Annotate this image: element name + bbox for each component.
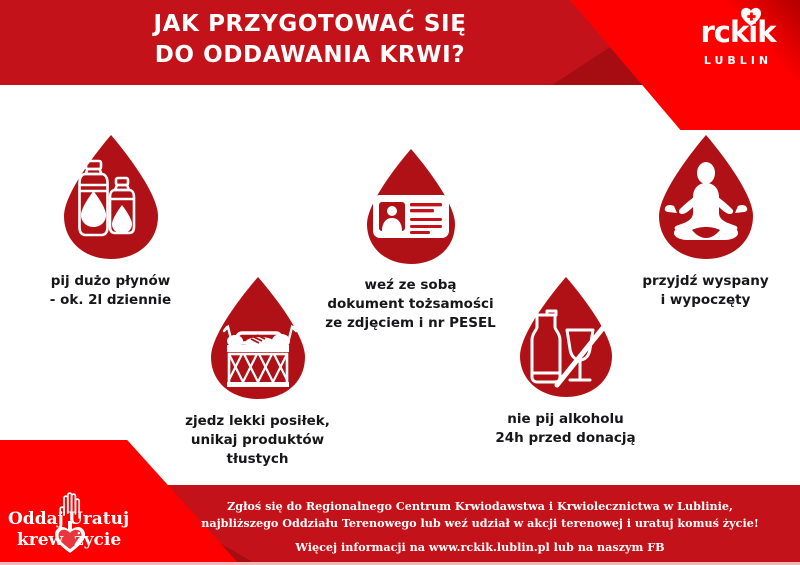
infographic-poster: JAK PRZYGOTOWAĆ SIĘ DO ODDAWANIA KRWI? r… <box>0 0 800 565</box>
badge-word-zycie: życie <box>74 530 121 551</box>
caption-line: unikaj produktów <box>175 431 340 450</box>
caption-line: 24h przed donacją <box>483 429 648 448</box>
oddaj-krew-badge[interactable]: Oddaj krew Uratuj życie <box>6 489 156 557</box>
caption-line: przyjdź wyspany <box>618 272 793 291</box>
item-no-alcohol-caption: nie pij alkoholu 24h przed donacją <box>483 410 648 448</box>
caption-line: i wypoczęty <box>618 291 793 310</box>
caption-line: pij dużo płynów <box>28 272 193 291</box>
meditating-person-icon <box>652 133 760 263</box>
rckik-logo[interactable]: rckik LUBLIN <box>690 12 786 67</box>
caption-line: tłustych <box>175 450 340 469</box>
item-well-rested-caption: przyjdź wyspany i wypoczęty <box>618 272 793 310</box>
caption-line: - ok. 2l dziennie <box>28 291 193 310</box>
caption-line: nie pij alkoholu <box>483 410 648 429</box>
content-area: pij dużo płynów - ok. 2l dziennie <box>0 85 800 485</box>
item-hydration: pij dużo płynów - ok. 2l dziennie <box>28 133 193 310</box>
logo-mark: rckik <box>690 12 786 52</box>
page-title: JAK PRZYGOTOWAĆ SIĘ DO ODDAWANIA KRWI? <box>0 9 620 71</box>
footer-line-2: najbliższego Oddziału Terenowego lub weź… <box>160 515 800 532</box>
page-title-line-1: JAK PRZYGOTOWAĆ SIĘ <box>0 9 620 40</box>
caption-line: zjedz lekki posiłek, <box>175 412 340 431</box>
heart-with-cross-icon <box>740 7 762 27</box>
caption-line: weź ze sobą <box>318 276 503 295</box>
item-hydration-caption: pij dużo płynów - ok. 2l dziennie <box>28 272 193 310</box>
item-light-meal: zjedz lekki posiłek, unikaj produktów tł… <box>175 275 340 469</box>
badge-word-oddaj: Oddaj <box>8 509 64 530</box>
item-id-document: weź ze sobą dokument tożsamości ze zdjęc… <box>318 147 503 333</box>
logo-wordmark: rckik <box>700 15 775 49</box>
footer-message: Zgłoś się do Regionalnego Centrum Krwiod… <box>160 498 800 556</box>
caption-line: dokument tożsamości <box>318 295 503 314</box>
item-id-document-caption: weź ze sobą dokument tożsamości ze zdjęc… <box>318 276 503 333</box>
id-card-icon <box>361 147 461 267</box>
caption-line: ze zdjęciem i nr PESEL <box>318 314 503 333</box>
badge-word-krew: krew <box>17 530 63 551</box>
picnic-basket-icon <box>205 275 311 403</box>
footer-line-3: Więcej informacji na www.rckik.lublin.pl… <box>160 539 800 556</box>
no-alcohol-icon <box>513 275 619 401</box>
item-well-rested: przyjdź wyspany i wypoczęty <box>618 133 793 310</box>
item-light-meal-caption: zjedz lekki posiłek, unikaj produktów tł… <box>175 412 340 469</box>
page-title-line-2: DO ODDAWANIA KRWI? <box>0 40 620 71</box>
logo-subtitle: LUBLIN <box>690 54 786 67</box>
badge-word-uratuj: Uratuj <box>68 509 129 530</box>
footer-line-1: Zgłoś się do Regionalnego Centrum Krwiod… <box>160 498 800 515</box>
water-bottles-icon <box>58 133 164 263</box>
